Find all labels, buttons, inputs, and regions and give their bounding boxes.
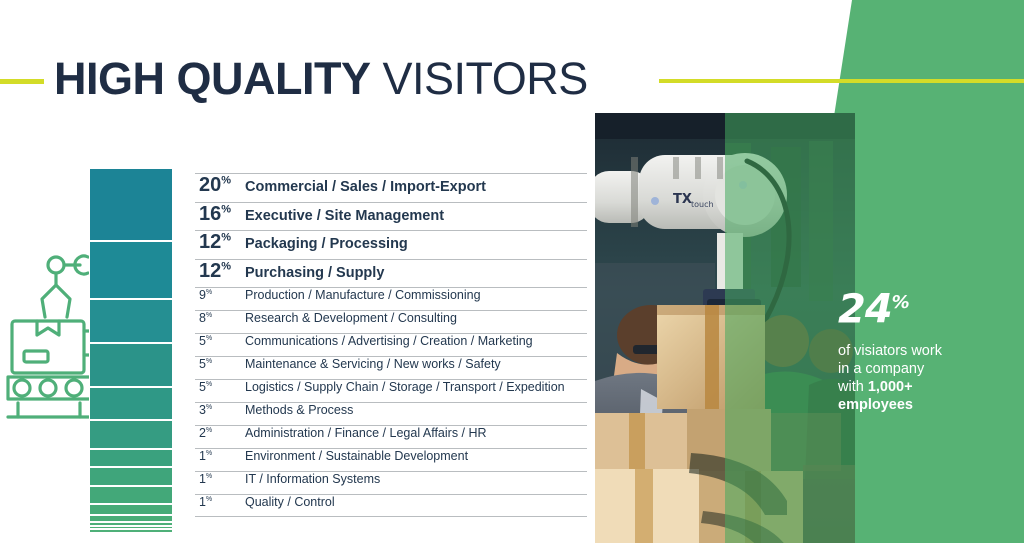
list-item: 8%Research & Development / Consulting: [195, 310, 587, 333]
list-item: 5%Communications / Advertising / Creatio…: [195, 333, 587, 356]
list-item-label: Purchasing / Supply: [245, 265, 587, 281]
stacked-bar-chart: [89, 168, 173, 533]
list-item-percent-symbol: %: [206, 427, 212, 434]
bar-segment: [89, 241, 173, 299]
stat-callout-text: of visiators work in a company with 1,00…: [838, 342, 1008, 414]
list-item-label: Commercial / Sales / Import-Export: [245, 179, 587, 195]
list-item-label: Communications / Advertising / Creation …: [245, 334, 587, 348]
list-item-label: Logistics / Supply Chain / Storage / Tra…: [245, 380, 587, 394]
list-item: 5%Maintenance & Servicing / New works / …: [195, 356, 587, 379]
list-item-percent: 12%: [195, 231, 245, 254]
list-item: 1%Environment / Sustainable Development: [195, 448, 587, 471]
list-item: 16%Executive / Site Management: [195, 202, 587, 231]
list-item-percent: 5%: [195, 380, 245, 394]
stat-callout: 24% of visiators work in a company with …: [838, 282, 1008, 414]
list-item-label: Production / Manufacture / Commissioning: [245, 288, 587, 302]
list-item-percent: 2%: [195, 426, 245, 440]
list-item: 1%Quality / Control: [195, 494, 587, 517]
bar-segment: [89, 168, 173, 241]
stat-line-1: of visiators work: [838, 343, 942, 359]
list-item-percent-value: 9: [199, 288, 206, 302]
list-item-percent-value: 5: [199, 357, 206, 371]
list-item-percent-value: 5: [199, 380, 206, 394]
list-item-percent-value: 1: [199, 449, 206, 463]
svg-text:touch: touch: [691, 200, 714, 209]
factory-robot-photo: TX touch: [595, 113, 855, 543]
list-item: 12%Packaging / Processing: [195, 230, 587, 259]
svg-text:TX: TX: [673, 192, 692, 207]
list-item-percent-symbol: %: [206, 381, 212, 388]
bar-segment: [89, 343, 173, 387]
bar-segment: [89, 486, 173, 504]
list-item-percent: 3%: [195, 403, 245, 417]
list-item-label: Research & Development / Consulting: [245, 311, 587, 325]
list-item-percent-value: 12: [199, 260, 221, 282]
visitor-breakdown-list: 20%Commercial / Sales / Import-Export16%…: [195, 173, 587, 517]
list-item-percent-value: 8: [199, 311, 206, 325]
list-item-percent-value: 5: [199, 334, 206, 348]
stat-number-value: 24: [838, 286, 892, 332]
page-title-light: VISITORS: [371, 53, 588, 104]
list-item-percent-symbol: %: [221, 260, 231, 272]
title-accent-dash-left: [0, 79, 44, 84]
list-item-percent: 20%: [195, 174, 245, 197]
list-item-percent-value: 1: [199, 495, 206, 509]
list-item: 9%Production / Manufacture / Commissioni…: [195, 287, 587, 310]
list-item-label: IT / Information Systems: [245, 472, 587, 486]
list-item-percent: 9%: [195, 288, 245, 302]
list-item-percent-value: 1: [199, 472, 206, 486]
list-item: 5%Logistics / Supply Chain / Storage / T…: [195, 379, 587, 402]
bar-segment: [89, 515, 173, 522]
list-item-percent-symbol: %: [206, 404, 212, 411]
list-item: 3%Methods & Process: [195, 402, 587, 425]
list-item-percent-symbol: %: [221, 203, 231, 215]
list-item-label: Administration / Finance / Legal Affairs…: [245, 426, 587, 440]
list-item: 12%Purchasing / Supply: [195, 259, 587, 288]
bar-segment: [89, 387, 173, 420]
bar-segment: [89, 449, 173, 467]
list-item-percent-symbol: %: [206, 358, 212, 365]
list-item-label: Environment / Sustainable Development: [245, 449, 587, 463]
list-item: 20%Commercial / Sales / Import-Export: [195, 173, 587, 202]
list-item-percent-value: 16: [199, 203, 221, 225]
list-item-percent-value: 3: [199, 403, 206, 417]
list-item-percent: 1%: [195, 472, 245, 486]
list-item: 2%Administration / Finance / Legal Affai…: [195, 425, 587, 448]
stat-line-3-plain: with: [838, 379, 868, 395]
list-item-percent-symbol: %: [206, 289, 212, 296]
list-item-percent-symbol: %: [221, 231, 231, 243]
page-title: HIGH QUALITY VISITORS: [54, 53, 588, 105]
bar-segment: [89, 467, 173, 485]
conveyor-robot-icon: [6, 243, 98, 421]
stat-line-4-strong: employees: [838, 397, 913, 413]
stat-number-symbol: %: [892, 292, 909, 313]
list-item-percent: 5%: [195, 357, 245, 371]
bar-segment: [89, 504, 173, 515]
stat-line-3-strong: 1,000+: [868, 379, 913, 395]
list-item-percent-value: 20: [199, 174, 221, 196]
list-item-percent-symbol: %: [206, 496, 212, 503]
list-item-percent: 1%: [195, 495, 245, 509]
list-item-label: Methods & Process: [245, 403, 587, 417]
list-item-percent-symbol: %: [206, 312, 212, 319]
page-title-bold: HIGH QUALITY: [54, 53, 371, 104]
list-item: 1%IT / Information Systems: [195, 471, 587, 494]
list-item-percent: 1%: [195, 449, 245, 463]
list-item-label: Maintenance & Servicing / New works / Sa…: [245, 357, 587, 371]
list-item-percent-symbol: %: [221, 174, 231, 186]
list-item-percent: 8%: [195, 311, 245, 325]
bar-segment: [89, 299, 173, 343]
title-accent-rule-right: [659, 79, 1024, 83]
bar-segment: [89, 529, 173, 533]
bar-segment: [89, 420, 173, 449]
slide-root: TX touch: [0, 0, 1024, 543]
list-item-label: Quality / Control: [245, 495, 587, 509]
list-item-percent-value: 12: [199, 231, 221, 253]
list-item-percent: 5%: [195, 334, 245, 348]
photo-green-overlay: [725, 113, 855, 543]
list-item-percent-symbol: %: [206, 450, 212, 457]
list-item-label: Packaging / Processing: [245, 236, 587, 252]
list-item-percent: 12%: [195, 260, 245, 283]
list-item-percent: 16%: [195, 203, 245, 226]
stat-line-2: in a company: [838, 361, 924, 377]
list-item-percent-value: 2: [199, 426, 206, 440]
list-item-percent-symbol: %: [206, 335, 212, 342]
list-item-percent-symbol: %: [206, 473, 212, 480]
list-item-label: Executive / Site Management: [245, 208, 587, 224]
stat-callout-number: 24%: [838, 282, 1008, 330]
